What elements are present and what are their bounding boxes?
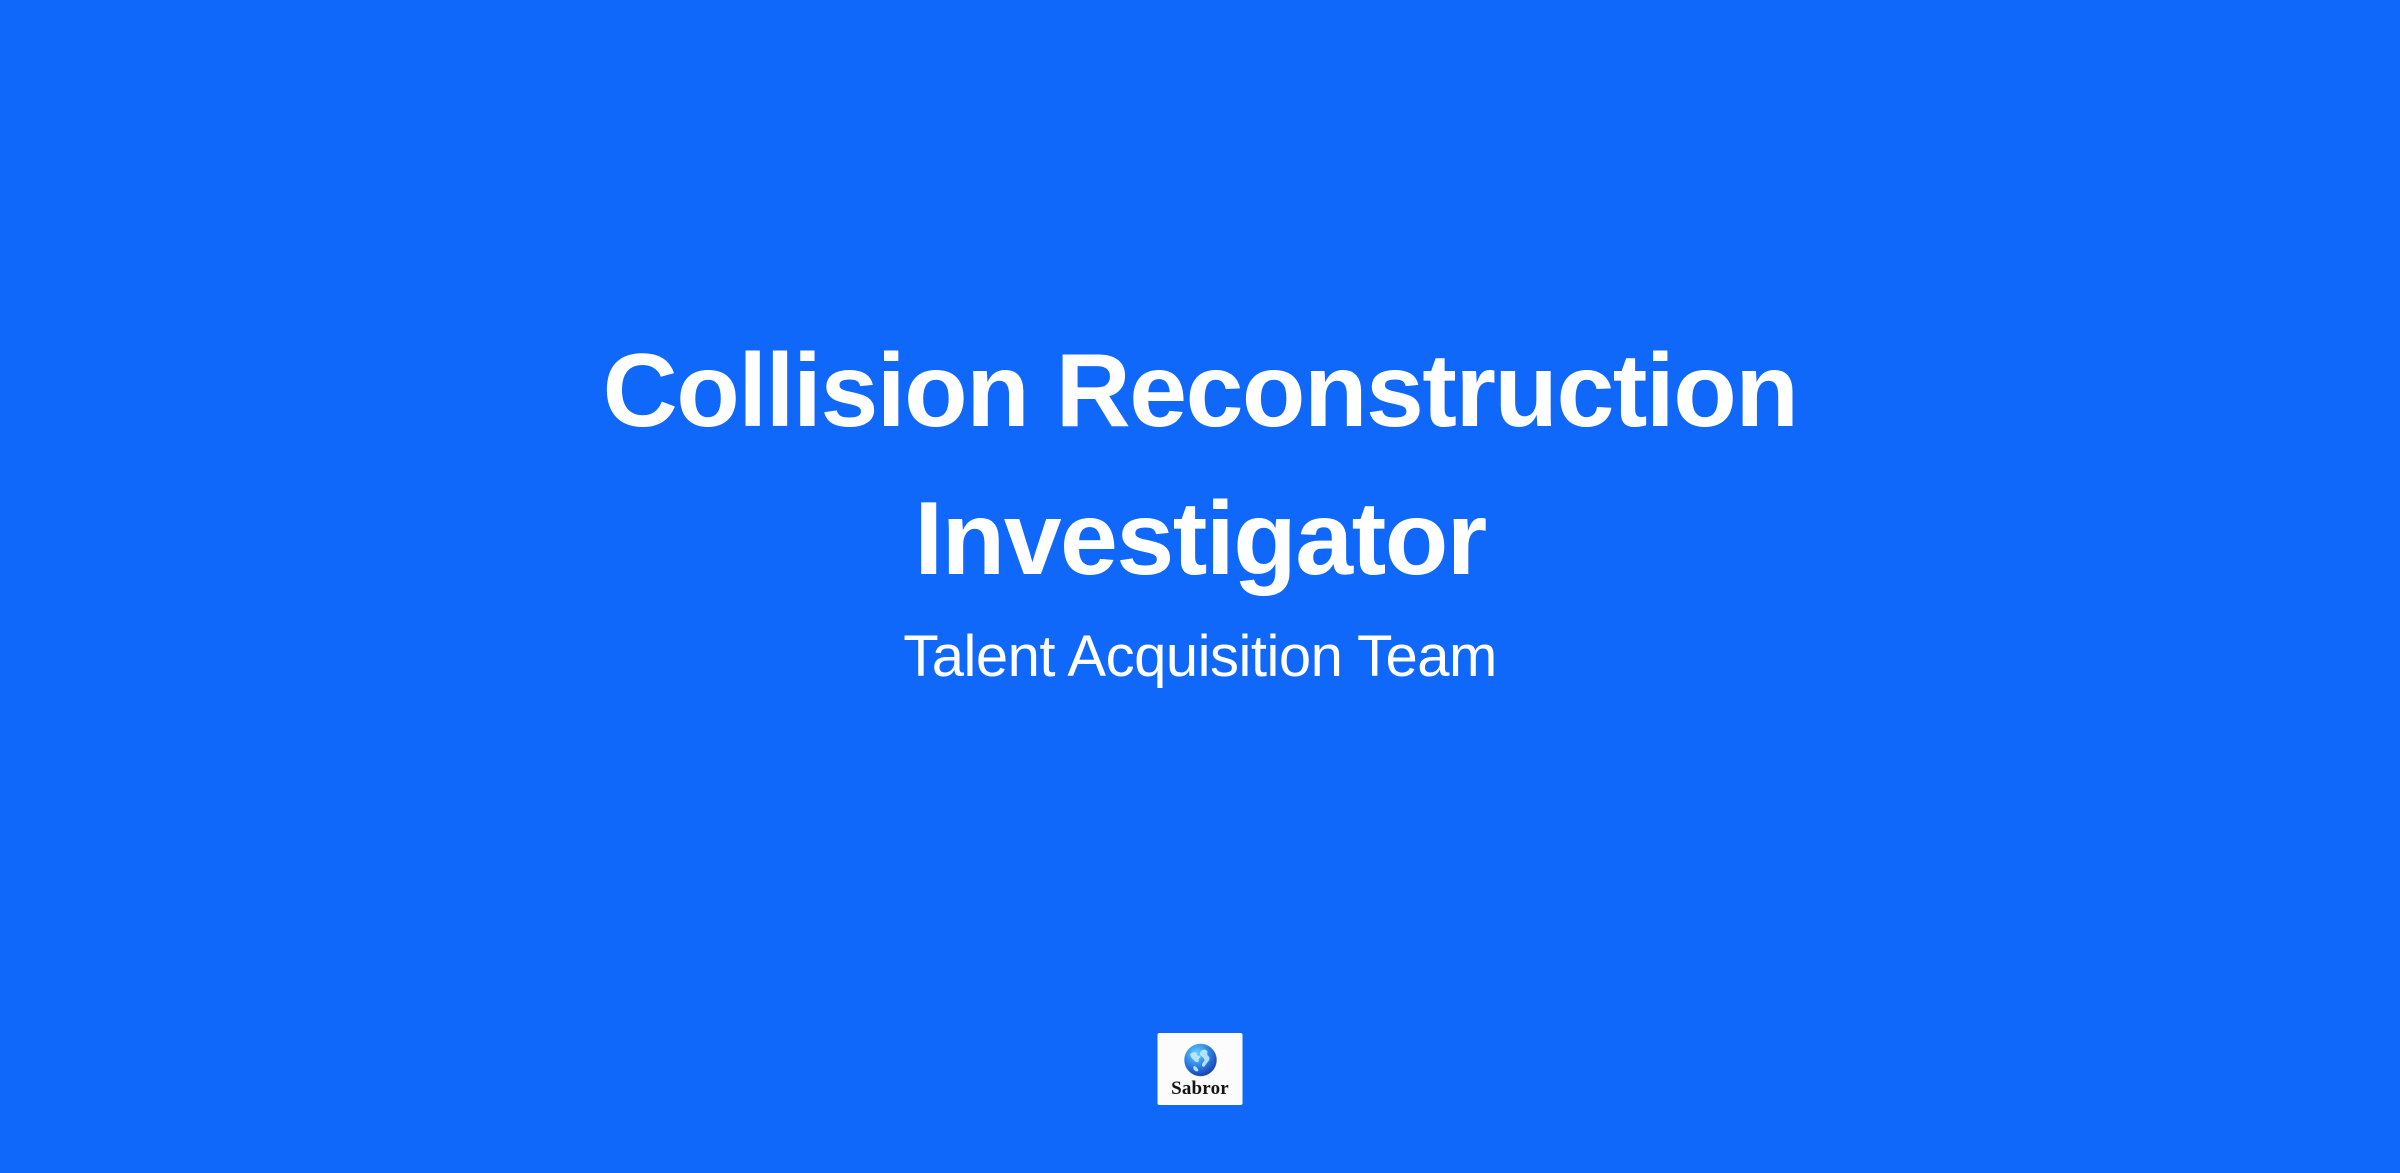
globe-icon — [1182, 1042, 1218, 1078]
brand-logo: Sabror — [1158, 1033, 1243, 1105]
hero-text-block: Collision Reconstruction Investigator Ta… — [0, 318, 2400, 695]
page-subtitle: Talent Acquisition Team — [400, 613, 2000, 694]
page-title: Collision Reconstruction Investigator — [500, 318, 1900, 613]
brand-wordmark: Sabror — [1171, 1079, 1229, 1098]
title-slide: Collision Reconstruction Investigator Ta… — [0, 0, 2400, 1173]
